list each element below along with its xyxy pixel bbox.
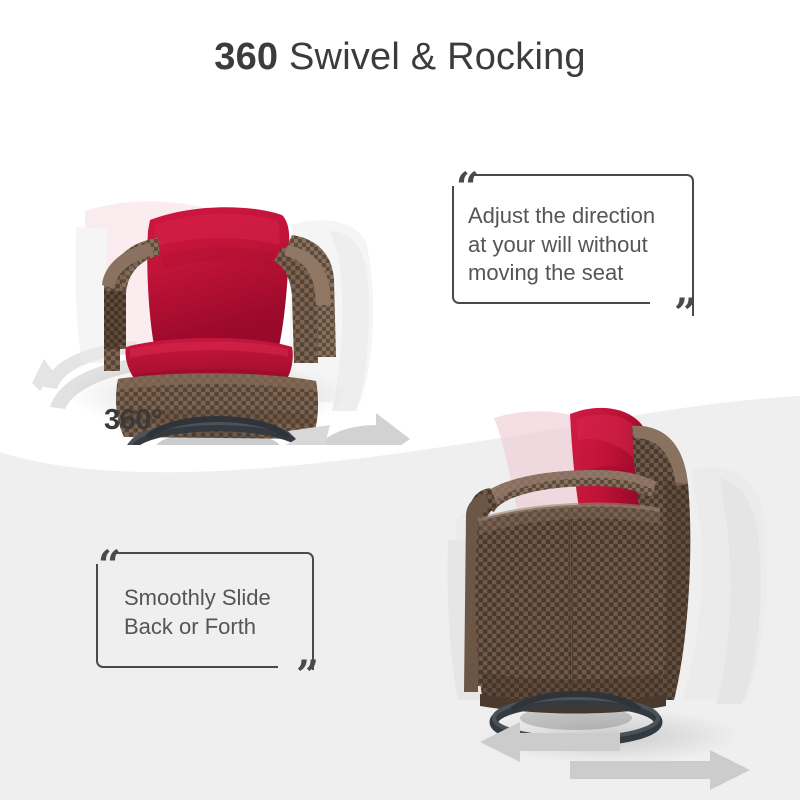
- degree-label: 360°: [104, 404, 162, 437]
- page-title-bold: 360: [214, 36, 278, 78]
- close-quote-icon: ”: [296, 656, 320, 696]
- quote-box-swivel: “ ” Adjust the direction at your will wi…: [452, 174, 694, 304]
- ghost-chair-right-fwd: [682, 467, 767, 704]
- page-title-regular: Swivel & Rocking: [278, 36, 586, 78]
- slide-arrow-right: [570, 750, 750, 790]
- slide-arrow-left: [480, 722, 620, 762]
- quote-text-rocking: Smoothly Slide Back or Forth: [124, 584, 314, 641]
- swivel-chair-illustration: [30, 95, 410, 445]
- infographic-page: 360 Swivel & Rocking: [0, 0, 800, 800]
- slide-direction-arrows: [440, 718, 790, 798]
- open-quote-icon: “: [98, 546, 122, 586]
- close-quote-icon: ”: [674, 294, 698, 334]
- quote-text-swivel: Adjust the direction at your will withou…: [468, 202, 682, 288]
- quote-box-rocking: “ ” Smoothly Slide Back or Forth: [96, 552, 314, 668]
- page-title: 360 Swivel & Rocking: [0, 36, 800, 79]
- side-panel: [475, 505, 666, 704]
